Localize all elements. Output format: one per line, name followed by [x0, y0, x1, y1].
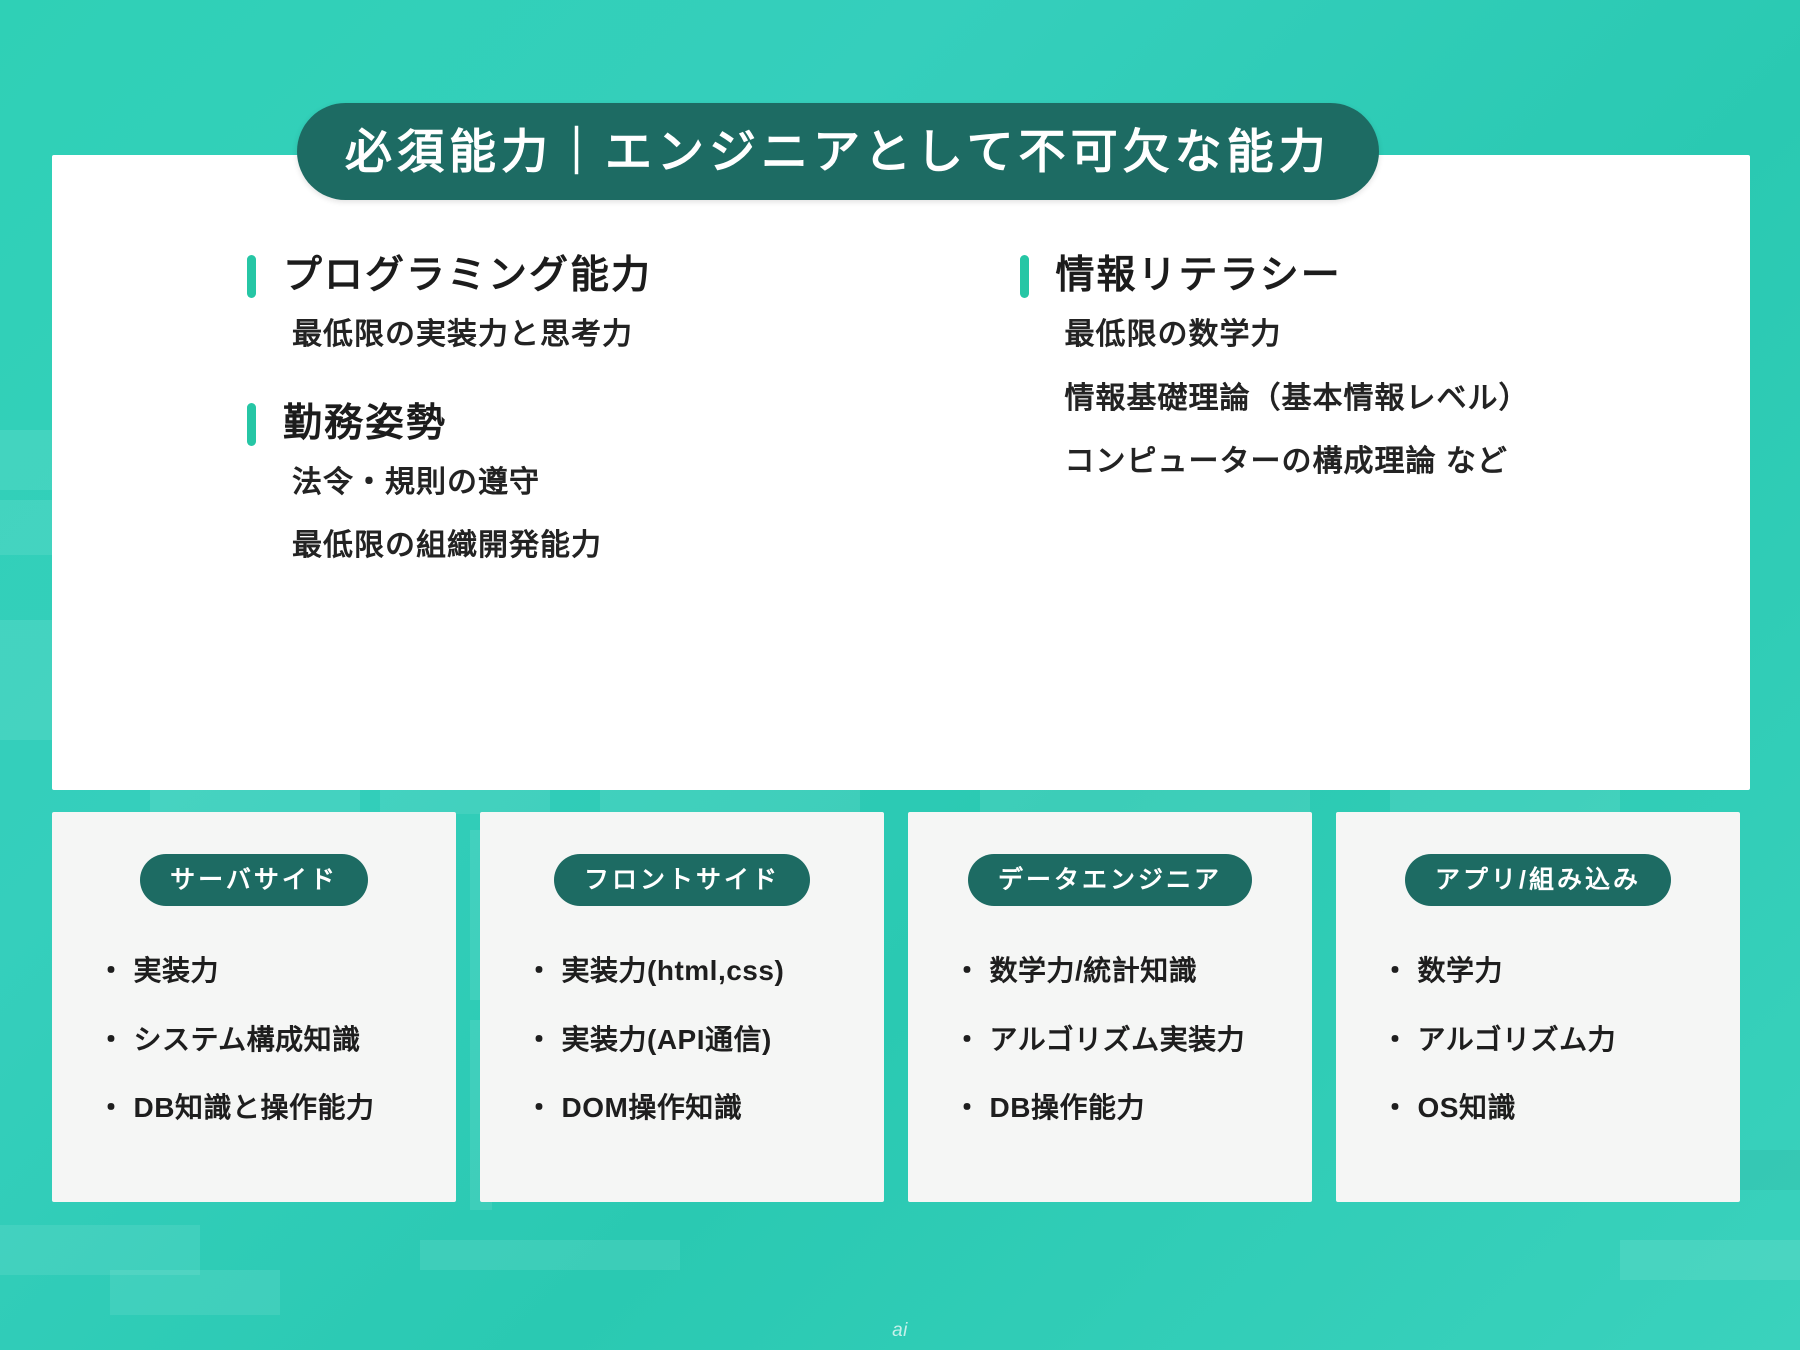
card-list-item: ・OS知識 — [1381, 1091, 1706, 1125]
bullet-icon: ・ — [1381, 1024, 1410, 1055]
page-title: 必須能力｜エンジニアとして不可欠な能力 — [345, 128, 1331, 175]
bullet-icon: ・ — [1381, 1092, 1410, 1123]
card-app-embedded: アプリ/組み込み ・数学力 ・アルゴリズム力 ・OS知識 — [1336, 812, 1740, 1202]
group-item: 情報基礎理論（基本情報レベル） — [1065, 382, 1751, 417]
watermark-label: ai — [892, 1320, 908, 1342]
card-data-engineer: データエンジニア ・数学力/統計知識 ・アルゴリズム実装力 ・DB操作能力 — [908, 812, 1312, 1202]
role-cards: サーバサイド ・実装力 ・システム構成知識 ・DB知識と操作能力 フロントサイド… — [52, 812, 1752, 1202]
card-list-item-label: アルゴリズム力 — [1418, 1024, 1617, 1055]
slide-title-pill: 必須能力｜エンジニアとして不可欠な能力 — [297, 103, 1379, 200]
group-title: 勤務姿勢 — [283, 403, 447, 446]
accent-bar-icon — [247, 255, 256, 298]
card-list-item: ・実装力 — [97, 954, 422, 988]
bg-texture-block — [1620, 1240, 1800, 1280]
card-list-item: ・DOM操作知識 — [525, 1091, 850, 1125]
group-information-literacy: 情報リテラシー 最低限の数学力 情報基礎理論（基本情報レベル） コンピューターの… — [1020, 255, 1751, 480]
group-item: 最低限の実装力と思考力 — [292, 318, 978, 353]
accent-bar-icon — [247, 403, 256, 446]
bullet-icon: ・ — [1381, 955, 1410, 986]
card-list-item-label: DOM操作知識 — [562, 1092, 743, 1123]
bg-texture-block — [600, 790, 860, 814]
bg-texture-block — [1390, 790, 1620, 814]
bg-texture-block — [0, 620, 52, 740]
card-item-list: ・数学力 ・アルゴリズム力 ・OS知識 — [1336, 954, 1740, 1125]
card-list-item: ・DB操作能力 — [953, 1091, 1278, 1125]
card-list-item: ・DB知識と操作能力 — [97, 1091, 422, 1125]
card-title: データエンジニア — [998, 868, 1222, 893]
bg-texture-block — [0, 1225, 200, 1275]
group-item: 最低限の組織開発能力 — [292, 529, 978, 564]
group-item: コンピューターの構成理論 など — [1065, 445, 1751, 480]
card-list-item: ・アルゴリズム力 — [1381, 1023, 1706, 1057]
card-list-item: ・数学力 — [1381, 954, 1706, 988]
bullet-icon: ・ — [525, 955, 554, 986]
card-list-item-label: 実装力(API通信) — [562, 1024, 772, 1055]
accent-bar-icon — [1020, 255, 1029, 298]
bullet-icon: ・ — [97, 1024, 126, 1055]
card-list-item-label: OS知識 — [1418, 1092, 1516, 1123]
card-title: サーバサイド — [170, 868, 338, 893]
card-title-pill: データエンジニア — [968, 854, 1252, 906]
group-heading: 勤務姿勢 — [247, 403, 978, 446]
bullet-icon: ・ — [525, 1092, 554, 1123]
card-title-pill: アプリ/組み込み — [1405, 854, 1671, 906]
card-title: アプリ/組み込み — [1435, 868, 1641, 893]
card-title: フロントサイド — [584, 868, 780, 893]
card-item-list: ・実装力 ・システム構成知識 ・DB知識と操作能力 — [52, 954, 456, 1125]
bg-texture-block — [110, 1270, 280, 1315]
group-title: プログラミング能力 — [283, 255, 652, 298]
column-left: プログラミング能力 最低限の実装力と思考力 勤務姿勢 法令・規則の遵守 最低限の… — [247, 255, 978, 564]
card-item-list: ・実装力(html,css) ・実装力(API通信) ・DOM操作知識 — [480, 954, 884, 1125]
card-list-item-label: 実装力(html,css) — [562, 955, 785, 986]
card-list-item-label: 数学力/統計知識 — [990, 955, 1198, 986]
card-list-item: ・実装力(html,css) — [525, 954, 850, 988]
bullet-icon: ・ — [97, 955, 126, 986]
card-list-item-label: 実装力 — [134, 955, 220, 986]
card-list-item-label: アルゴリズム実装力 — [990, 1024, 1246, 1055]
bg-texture-block — [150, 790, 360, 814]
card-list-item: ・数学力/統計知識 — [953, 954, 1278, 988]
card-server-side: サーバサイド ・実装力 ・システム構成知識 ・DB知識と操作能力 — [52, 812, 456, 1202]
card-list-item: ・アルゴリズム実装力 — [953, 1023, 1278, 1057]
group-title: 情報リテラシー — [1056, 255, 1342, 298]
bullet-icon: ・ — [97, 1092, 126, 1123]
card-list-item-label: DB知識と操作能力 — [134, 1092, 375, 1123]
group-work-attitude: 勤務姿勢 法令・規則の遵守 最低限の組織開発能力 — [247, 403, 978, 564]
bg-texture-block — [380, 790, 550, 814]
group-item: 最低限の数学力 — [1065, 318, 1751, 353]
card-front-side: フロントサイド ・実装力(html,css) ・実装力(API通信) ・DOM操… — [480, 812, 884, 1202]
card-list-item-label: システム構成知識 — [134, 1024, 361, 1055]
card-list-item: ・システム構成知識 — [97, 1023, 422, 1057]
column-right: 情報リテラシー 最低限の数学力 情報基礎理論（基本情報レベル） コンピューターの… — [1020, 255, 1751, 564]
card-list-item-label: 数学力 — [1418, 955, 1504, 986]
card-list-item-label: DB操作能力 — [990, 1092, 1145, 1123]
bullet-icon: ・ — [953, 955, 982, 986]
bullet-icon: ・ — [525, 1024, 554, 1055]
card-title-pill: フロントサイド — [554, 854, 810, 906]
card-item-list: ・数学力/統計知識 ・アルゴリズム実装力 ・DB操作能力 — [908, 954, 1312, 1125]
bg-texture-block — [980, 790, 1310, 814]
content-columns: プログラミング能力 最低限の実装力と思考力 勤務姿勢 法令・規則の遵守 最低限の… — [52, 255, 1750, 564]
card-list-item: ・実装力(API通信) — [525, 1023, 850, 1057]
group-heading: プログラミング能力 — [247, 255, 978, 298]
bullet-icon: ・ — [953, 1024, 982, 1055]
bullet-icon: ・ — [953, 1092, 982, 1123]
group-item: 法令・規則の遵守 — [292, 466, 978, 501]
group-heading: 情報リテラシー — [1020, 255, 1751, 298]
card-title-pill: サーバサイド — [140, 854, 368, 906]
slide-root: 必須能力｜エンジニアとして不可欠な能力 プログラミング能力 最低限の実装力と思考… — [0, 0, 1800, 1350]
group-programming: プログラミング能力 最低限の実装力と思考力 — [247, 255, 978, 353]
bg-texture-block — [420, 1240, 680, 1270]
